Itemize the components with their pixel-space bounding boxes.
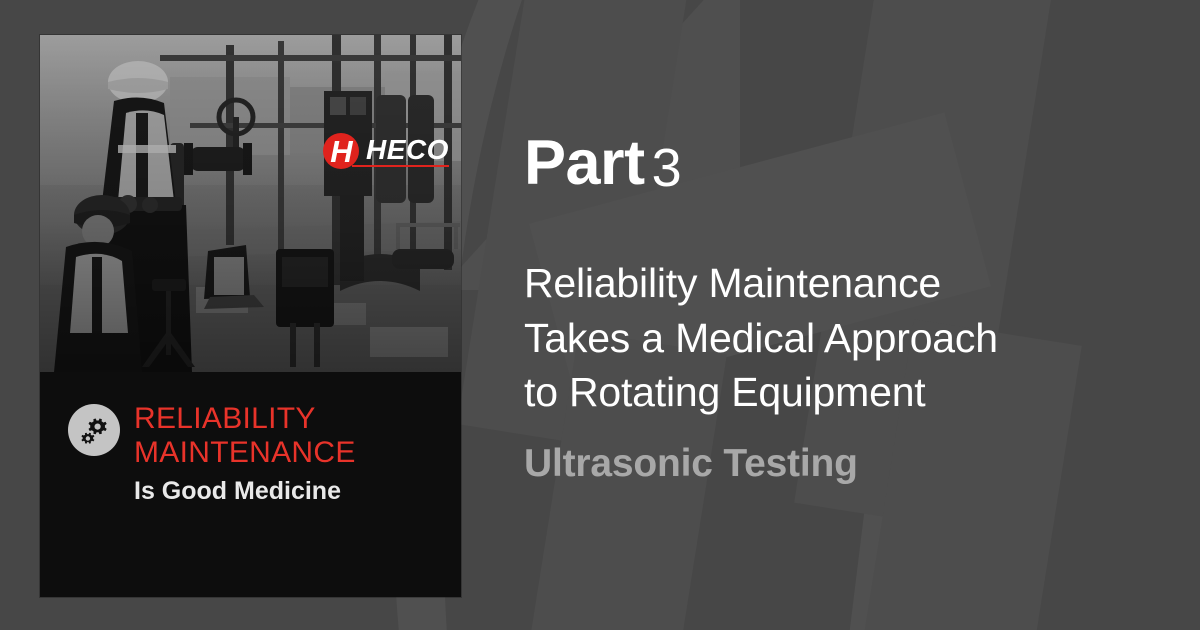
gears-icon — [68, 404, 120, 456]
cover-title-panel: RELIABILITY MAINTENANCE Is Good Medicine — [40, 372, 461, 597]
subhead: Ultrasonic Testing — [524, 443, 858, 486]
cover-title: RELIABILITY MAINTENANCE — [134, 402, 433, 469]
cover-photo: H HECO — [40, 35, 461, 372]
part-word: Part — [524, 128, 645, 198]
panel-text: RELIABILITY MAINTENANCE Is Good Medicine — [134, 402, 433, 506]
content-block: Part3 Reliability Maintenance Takes a Me… — [524, 0, 1144, 630]
heco-wordmark-wrap: HECO — [366, 136, 449, 167]
part-label: Part3 — [524, 132, 682, 195]
part-number: 3 — [652, 138, 682, 198]
headline: Reliability Maintenance Takes a Medical … — [524, 256, 1144, 420]
heco-wordmark: HECO — [366, 136, 449, 164]
heco-logo-underline — [352, 165, 449, 167]
panel-row: RELIABILITY MAINTENANCE Is Good Medicine — [68, 402, 433, 506]
ebook-cover-card: H HECO — [40, 35, 461, 597]
promo-banner: H HECO — [0, 0, 1200, 630]
heco-logo: H HECO — [323, 133, 449, 169]
photo-dark-overlay — [40, 35, 461, 372]
cover-subtitle: Is Good Medicine — [134, 478, 433, 506]
